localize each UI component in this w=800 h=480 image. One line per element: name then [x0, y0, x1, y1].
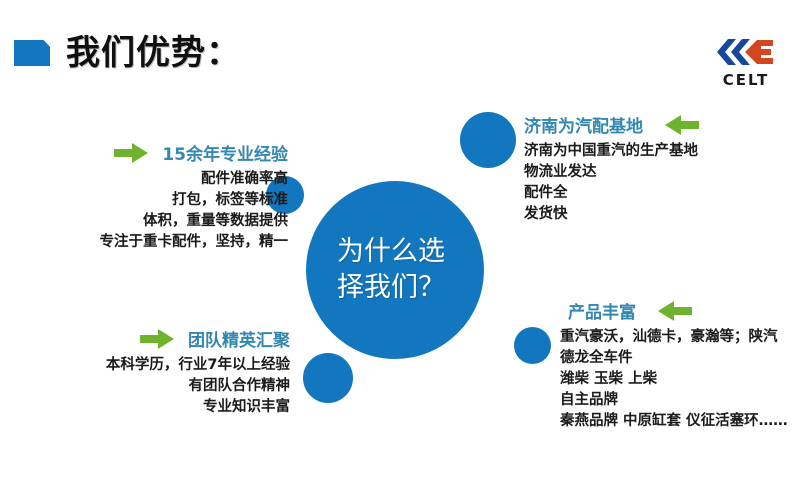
block-products-line: 重汽豪沃，汕德卡，豪瀚等；陕汽德龙全车件	[560, 327, 790, 369]
celt-logo-mark	[711, 34, 781, 70]
center-circle: 为什么选择我们？	[306, 181, 484, 359]
block-base-line: 物流业发达	[524, 162, 794, 183]
block-team-line: 有团队合作精神	[10, 376, 290, 397]
block-team-header: 团队精英汇聚	[10, 326, 290, 351]
arrow-left-icon	[658, 301, 692, 321]
block-products-line: 自主品牌	[560, 390, 790, 411]
block-team-heading: 团队精英汇聚	[188, 326, 290, 351]
block-products-body: 重汽豪沃，汕德卡，豪瀚等；陕汽德龙全车件 潍柴 玉柴 上柴 自主品牌 秦燕品牌 …	[560, 327, 790, 432]
accent-dot-bottom-left	[303, 353, 353, 403]
block-base-heading: 济南为汽配基地	[524, 112, 643, 137]
page-title: 我们优势：	[14, 36, 241, 70]
block-products: 产品丰富 重汽豪沃，汕德卡，豪瀚等；陕汽德龙全车件 潍柴 玉柴 上柴 自主品牌 …	[560, 298, 800, 432]
accent-dot-bottom-right	[514, 327, 551, 364]
celt-logo: CELT	[704, 34, 788, 86]
block-base-line: 济南为中国重汽的生产基地	[524, 141, 794, 162]
block-experience-heading: 15余年专业经验	[162, 140, 288, 165]
block-team-line: 专业知识丰富	[10, 397, 290, 418]
block-products-line: 潍柴 玉柴 上柴	[560, 369, 790, 390]
arrow-left-icon	[665, 115, 699, 135]
slide-canvas: 我们优势： CELT 为什么选择我们？ 15余年专业经验 配件准确率高 打包，标…	[0, 0, 800, 480]
block-base-header: 济南为汽配基地	[524, 112, 794, 137]
block-products-heading: 产品丰富	[568, 298, 636, 323]
arrow-right-icon	[114, 143, 148, 163]
block-team: 团队精英汇聚 本科学历，行业7年以上经验 有团队合作精神 专业知识丰富	[10, 326, 290, 418]
block-base: 济南为汽配基地 济南为中国重汽的生产基地 物流业发达 配件全 发货快	[524, 112, 794, 225]
accent-dot-top-right	[460, 112, 516, 168]
block-base-line: 配件全	[524, 183, 794, 204]
block-base-body: 济南为中国重汽的生产基地 物流业发达 配件全 发货快	[524, 141, 794, 225]
block-products-header: 产品丰富	[568, 298, 800, 323]
block-experience-body: 配件准确率高 打包，标签等标准 体积，重量等数据提供 专注于重卡配件，坚持，精一	[18, 169, 288, 253]
block-experience-line: 体积，重量等数据提供	[18, 211, 288, 232]
block-experience: 15余年专业经验 配件准确率高 打包，标签等标准 体积，重量等数据提供 专注于重…	[18, 140, 288, 253]
center-circle-label: 为什么选择我们？	[337, 234, 453, 307]
block-base-line: 发货快	[524, 204, 794, 225]
block-experience-header: 15余年专业经验	[18, 140, 288, 165]
block-experience-line: 配件准确率高	[18, 169, 288, 190]
block-team-line: 本科学历，行业7年以上经验	[10, 355, 290, 376]
arrow-right-icon	[140, 329, 174, 349]
block-experience-line: 打包，标签等标准	[18, 190, 288, 211]
block-experience-line: 专注于重卡配件，坚持，精一	[18, 232, 288, 253]
block-team-body: 本科学历，行业7年以上经验 有团队合作精神 专业知识丰富	[10, 355, 290, 418]
block-products-line: 秦燕品牌 中原缸套 仪征活塞环……	[560, 411, 790, 432]
title-marker-icon	[14, 40, 50, 66]
page-title-text: 我们优势：	[66, 36, 241, 70]
celt-logo-wordmark: CELT	[704, 71, 788, 89]
